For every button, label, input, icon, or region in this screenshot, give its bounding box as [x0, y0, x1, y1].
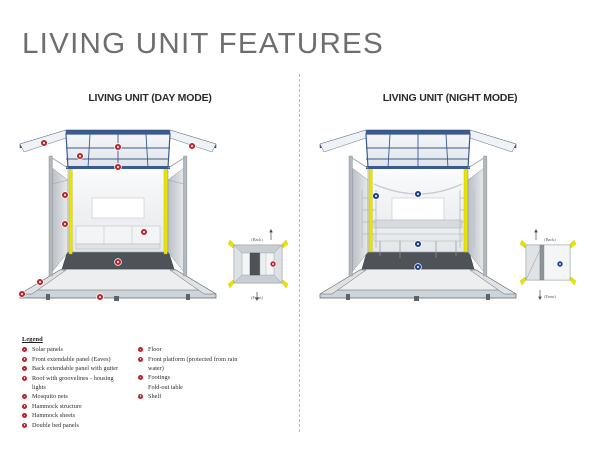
- legend-item: Hammock structure: [22, 402, 132, 411]
- legend-item-label: Shelf: [148, 392, 161, 401]
- legend-item: Floor: [138, 345, 248, 354]
- legend-bullet-icon: [22, 394, 27, 399]
- legend-item-label: Roof with groovelines - housing: [32, 374, 114, 383]
- living-unit-day-drawing: [18, 122, 218, 307]
- legend-item: Double bed panels: [22, 421, 132, 430]
- legend-item-label: Mosquito nets: [32, 392, 68, 401]
- legend-item: Roof with groovelines - housing: [22, 374, 132, 383]
- legend-bullet-icon: [22, 413, 27, 418]
- legend-bullet-icon: [22, 404, 27, 409]
- legend-title-day: Legend: [22, 336, 272, 343]
- legend-item: Shelf: [138, 392, 248, 401]
- legend-item: Solar panels: [22, 345, 132, 354]
- inset-front-label-day: (Front): [251, 295, 263, 300]
- legend-item: Hammock sheets: [22, 411, 132, 420]
- legend-item-label: Back extendable panel with gutter: [32, 364, 118, 373]
- legend-item: Back extendable panel with gutter: [22, 364, 132, 373]
- legend-item-label: Solar panels: [32, 345, 63, 354]
- legend-bullet-icon: [138, 394, 143, 399]
- legend-bullet-icon: [138, 357, 143, 362]
- inset-back-label-night: (Back): [544, 237, 556, 242]
- legend-bullet-icon: [138, 375, 143, 380]
- panel-day-mode: LIVING UNIT (DAY MODE): [0, 0, 300, 450]
- legend-item: Front extendable panel (Eaves): [22, 355, 132, 364]
- legend-item-label: Front platform (protected from rain: [148, 355, 237, 364]
- legend-item: Front platform (protected from rain: [138, 355, 248, 364]
- legend-bullet-icon: [22, 366, 27, 371]
- legend-column-a-day: Solar panels Front extendable panel (Eav…: [22, 345, 132, 430]
- legend-item-label: Floor: [148, 345, 162, 354]
- legend-item-label: Front extendable panel (Eaves): [32, 355, 111, 364]
- legend-column-b-day: Floor Front platform (protected from rai…: [138, 345, 248, 430]
- legend-bullet-icon: [22, 423, 27, 428]
- legend-item-label: Footings: [148, 373, 170, 382]
- panel-heading-night: LIVING UNIT (NIGHT MODE): [300, 92, 600, 104]
- inset-back-label-day: (Back): [251, 237, 263, 242]
- legend-bullet-icon: [138, 347, 143, 352]
- legend-item-label-continuation: lights: [22, 383, 132, 392]
- legend-item-label-plain: Fold-out table: [138, 383, 248, 392]
- legend-bullet-icon: [22, 376, 27, 381]
- inset-front-label-night: (Front): [544, 294, 556, 299]
- legend-bullet-icon: [22, 357, 27, 362]
- panel-heading-day: LIVING UNIT (DAY MODE): [0, 92, 300, 104]
- plan-inset-day: (Back) (Front): [226, 228, 290, 304]
- panel-night-mode: LIVING UNIT (NIGHT MODE): [300, 0, 600, 450]
- legend-item-label: Hammock sheets: [32, 411, 75, 420]
- legend-bullet-icon: [22, 347, 27, 352]
- legend-day: Legend Solar panels Front extendable pan…: [22, 336, 272, 430]
- legend-item-label: Double bed panels: [32, 421, 79, 430]
- legend-item-label-continuation: water): [138, 364, 248, 373]
- living-unit-night-drawing: [318, 122, 518, 307]
- legend-item: Footings: [138, 373, 248, 382]
- legend-item: Mosquito nets: [22, 392, 132, 401]
- plan-inset-night: (Back) (Front): [516, 228, 580, 304]
- legend-item-label: Hammock structure: [32, 402, 82, 411]
